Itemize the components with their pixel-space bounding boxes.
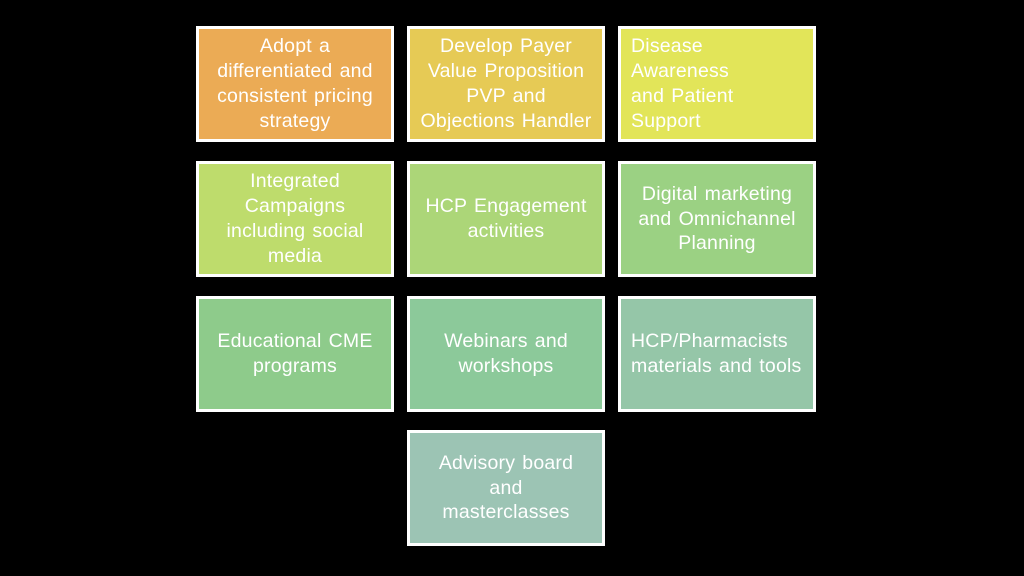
tile-hcp-engagement[interactable]: HCP Engagement activities — [407, 161, 605, 277]
tile-label: HCP Engagement activities — [425, 194, 586, 244]
tile-label: Disease Awareness and Patient Support — [631, 34, 803, 134]
tile-label: Webinars and workshops — [444, 329, 568, 379]
tile-label: Develop Payer Value Proposition PVP and … — [421, 34, 592, 134]
tile-educational-cme[interactable]: Educational CME programs — [196, 296, 394, 412]
tile-webinars-workshops[interactable]: Webinars and workshops — [407, 296, 605, 412]
tile-digital-marketing[interactable]: Digital marketing and Omnichannel Planni… — [618, 161, 816, 277]
tile-hcp-pharmacists-materials[interactable]: HCP/Pharmacists materials and tools — [618, 296, 816, 412]
tile-disease-awareness[interactable]: Disease Awareness and Patient Support — [618, 26, 816, 142]
tile-label: Integrated Campaigns including social me… — [227, 169, 364, 269]
tile-label: Educational CME programs — [217, 329, 372, 379]
tile-label: HCP/Pharmacists materials and tools — [631, 329, 801, 379]
tile-payer-value-proposition[interactable]: Develop Payer Value Proposition PVP and … — [407, 26, 605, 142]
tile-label: Digital marketing and Omnichannel Planni… — [638, 182, 795, 257]
diagram-canvas: Adopt a differentiated and consistent pr… — [0, 0, 1024, 576]
tile-label: Adopt a differentiated and consistent pr… — [217, 34, 373, 134]
tile-pricing-strategy[interactable]: Adopt a differentiated and consistent pr… — [196, 26, 394, 142]
tile-advisory-board[interactable]: Advisory board and masterclasses — [407, 430, 605, 546]
tile-integrated-campaigns[interactable]: Integrated Campaigns including social me… — [196, 161, 394, 277]
tile-label: Advisory board and masterclasses — [420, 451, 592, 526]
